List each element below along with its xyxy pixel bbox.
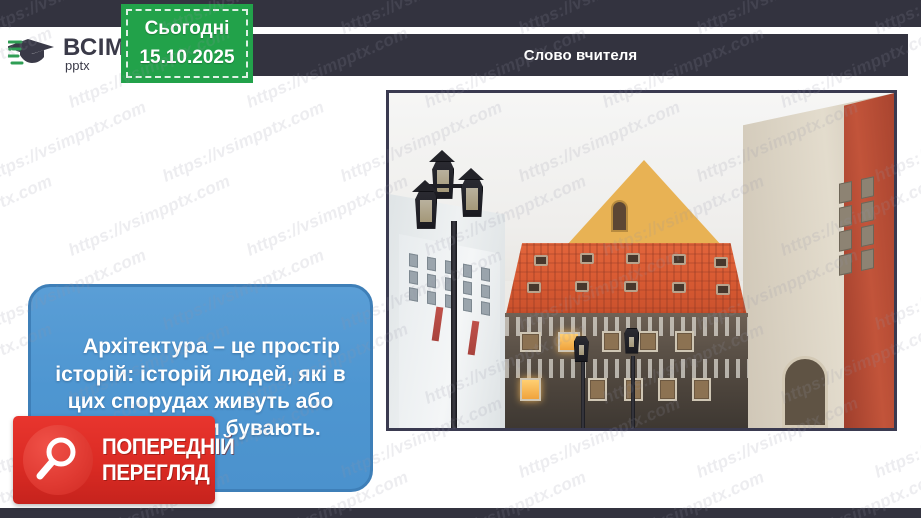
facade-window: [520, 332, 542, 352]
date-badge: Сьогодні 15.10.2025: [121, 4, 253, 83]
street-lamp: [571, 334, 597, 428]
preview-badge-line1: ПОПЕРЕДНІЙ: [102, 436, 234, 458]
facade-window: [692, 378, 711, 401]
facade-window: [675, 331, 694, 352]
watermark-text: https://vsimpptx.com: [0, 97, 149, 186]
header-bar: Слово вчителя: [253, 34, 908, 76]
page-title: Слово вчителя: [524, 47, 638, 64]
brand-logo: ВСІМ pptx: [8, 30, 130, 78]
facade-window: [520, 378, 542, 401]
street-photo: [389, 93, 894, 428]
preview-badge: ПОПЕРЕДНІЙ ПЕРЕГЛЯД: [13, 416, 215, 504]
street-lamp: [621, 328, 647, 429]
watermark-text: https://vsimpptx.com: [0, 171, 55, 260]
street-lamp: [409, 140, 499, 428]
right-window-grid: [839, 176, 874, 275]
watermark-text: https://vsimpptx.com: [159, 97, 327, 186]
bottom-strip: [0, 508, 921, 518]
graduation-cap-icon: [8, 33, 62, 75]
yellow-gable: [566, 160, 722, 246]
preview-badge-line2: ПЕРЕГЛЯД: [102, 462, 234, 484]
facade-window: [658, 378, 677, 401]
slide: ВСІМ pptx Сьогодні 15.10.2025 Слово вчит…: [0, 0, 921, 518]
facade-window: [602, 331, 621, 352]
date-badge-label: Сьогодні: [145, 18, 230, 40]
gable-window: [611, 200, 628, 232]
date-badge-value: 15.10.2025: [139, 47, 234, 69]
photo-frame: [386, 90, 897, 431]
tiled-roof: [505, 243, 747, 318]
archway: [782, 356, 828, 428]
logo-title: ВСІМ: [63, 36, 125, 60]
watermark-text: https://vsimpptx.com: [65, 171, 233, 260]
magnifier-icon: [23, 425, 93, 495]
